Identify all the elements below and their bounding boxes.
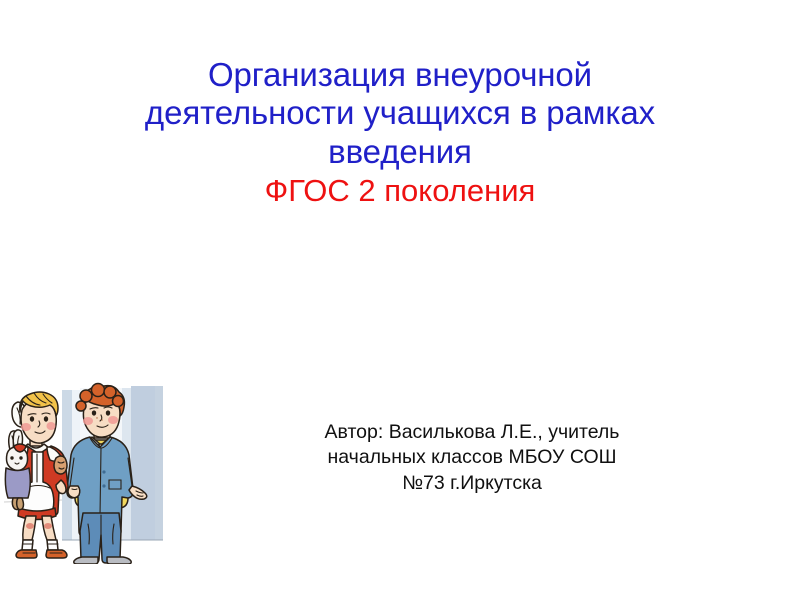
boy-trousers bbox=[80, 513, 121, 563]
title-line-3: введения bbox=[120, 133, 680, 171]
girl-head bbox=[20, 392, 58, 443]
small-toy bbox=[54, 456, 67, 474]
title-line-1: Организация внеурочной bbox=[120, 56, 680, 94]
author-line-3: №73 г.Иркутска bbox=[246, 471, 698, 496]
girl-figure bbox=[5, 392, 68, 558]
two-schoolchildren-illustration: .ol { stroke:#2a2118; stroke-width:1.5; … bbox=[4, 382, 188, 564]
girl-shoes bbox=[16, 550, 67, 558]
title-accent-line: ФГОС 2 поколения bbox=[120, 173, 680, 209]
author-line-2: начальных классов МБОУ СОШ bbox=[246, 445, 698, 470]
bunny-toy bbox=[5, 430, 30, 510]
slide-title: Организация внеурочной деятельности учащ… bbox=[120, 56, 680, 209]
girl-socks bbox=[22, 540, 58, 550]
author-credit: Автор: Василькова Л.Е., учитель начальны… bbox=[246, 420, 698, 496]
presentation-slide: Организация внеурочной деятельности учащ… bbox=[0, 0, 800, 600]
author-line-1: Автор: Василькова Л.Е., учитель bbox=[246, 420, 698, 445]
title-line-2: деятельности учащихся в рамках bbox=[120, 94, 680, 132]
